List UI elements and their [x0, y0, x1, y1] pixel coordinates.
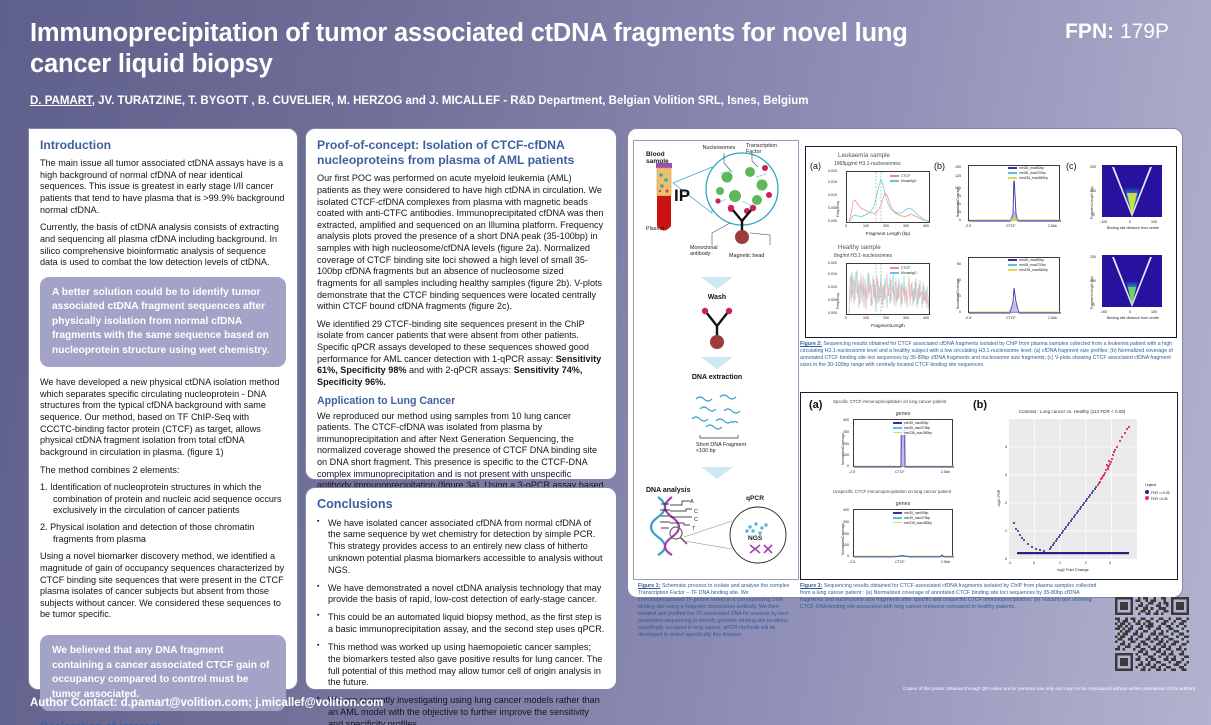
qpcr-label: qPCR [746, 495, 764, 502]
antibody-bead-icon [634, 304, 800, 354]
y-tick: 100 [955, 186, 961, 190]
x-tick: 100 [863, 224, 869, 228]
y-tick: 0 [959, 218, 961, 222]
base-c2-label: C [694, 517, 698, 523]
dna-fragments-icon [634, 393, 800, 443]
x-tick: -1 [1008, 561, 1011, 565]
conclusions-heading: Conclusions [317, 497, 605, 513]
qr-code[interactable] [1115, 597, 1189, 671]
x-tick: 2 [1085, 561, 1087, 565]
legend-entry: min35_max370bp [904, 426, 930, 430]
legend-entry: min236_max380bp [1019, 268, 1048, 272]
y-tick: 300 [843, 430, 849, 434]
y-tick: 200 [1090, 165, 1096, 169]
y-tick: 400 [843, 508, 849, 512]
introduction-paragraph-3: We have developed a new physical ctDNA i… [40, 377, 286, 458]
x-axis-label: Fragment Length (bp) [846, 231, 930, 236]
legend-title: Legend [1145, 483, 1169, 488]
x-tick: 2.5kb [941, 560, 950, 564]
y-tick: 100 [1090, 279, 1096, 283]
y-tick: 0 [1005, 557, 1007, 561]
x-tick: 100 [863, 316, 869, 320]
legend-entry: min236_max380bp [904, 521, 932, 525]
y-axis-label: NormalizedCoverage [841, 523, 845, 555]
plot-title: genes [853, 501, 953, 507]
chart-title: Contrast : Lung cancer vs. Healthy [113 … [1007, 409, 1137, 414]
legend-entry: min236_max380bp [1019, 176, 1048, 180]
y-axis-label: -log10 FDR [997, 490, 1001, 507]
y-tick: 0.005 [828, 298, 837, 302]
list-item: 2. Physical isolation and detection of t… [40, 522, 286, 545]
introduction-callout-1: A better solution could be to identify t… [40, 277, 286, 367]
legend-entry: FDR <0.05 [1151, 497, 1168, 501]
dna-extraction-label: DNA extraction [682, 374, 752, 382]
x-tick: 100 [1151, 310, 1157, 314]
figure2-panel: (a) (b) (c) Leukaemia sample 1968µg/ml H… [805, 146, 1177, 338]
x-tick: 2.5kb [1048, 224, 1057, 228]
list-item: We have isolated cancer associated cfDNA… [317, 518, 605, 577]
proof-of-concept-panel: Proof-of-concept: Isolation of CTCF-cfDN… [305, 128, 617, 480]
list-item: This method was worked up using haemopoi… [317, 642, 605, 689]
x-tick: 300 [903, 316, 909, 320]
legend-entry: CTCF [901, 266, 910, 270]
y-tick: 200 [843, 442, 849, 446]
arrow-down-icon-2 [701, 357, 733, 369]
x-tick: 1 [1059, 561, 1061, 565]
y-tick: 0 [847, 464, 849, 468]
x-tick: 100 [1151, 220, 1157, 224]
chart-subtitle: 1968µg/ml H3.1-nucleosomes [834, 161, 901, 167]
legend-entry: min35_max80bp [1019, 258, 1044, 262]
x-tick: -2.5 [965, 224, 971, 228]
y-tick: 0.015 [828, 180, 837, 184]
y-tick: 0 [847, 554, 849, 558]
legend-entry: min35_max370bp [904, 516, 930, 520]
vplot-heatmap [1102, 255, 1162, 307]
figure2a-leukaemia-chart: Leukaemia sample 1968µg/ml H3.1-nucleoso… [824, 151, 936, 243]
y-tick: 150 [955, 165, 961, 169]
figure1-diagram-panel: Blood sample [633, 140, 799, 580]
x-tick: -2.5 [965, 316, 971, 320]
introduction-panel: Introduction The main issue all tumor as… [28, 128, 298, 690]
author-contact: Author Contact: d.pamart@volition.com; j… [30, 697, 383, 709]
x-tick: -2.5 [849, 560, 855, 564]
chart-legend: min35_max80bp min35_max370bp min236_max3… [893, 421, 932, 435]
y-tick: 1 [1005, 529, 1007, 533]
author-list: D. PAMART, JV. TURATZINE, T. BYGOTT , B.… [30, 95, 1180, 107]
y-tick: 100 [843, 543, 849, 547]
x-tick: 0 [1129, 310, 1131, 314]
chart-subtitle: 8ng/ml H3.1-nucleosomes [834, 253, 892, 259]
chart-legend: CTCF MouseIgG [890, 174, 917, 184]
chart-legend: min35_max80bp min35_max370bp min236_max3… [893, 511, 932, 525]
introduction-paragraph-5: Using a novel biomarker discovery method… [40, 551, 286, 621]
y-tick: 0.000 [828, 219, 837, 223]
x-tick: 300 [903, 224, 909, 228]
nucleosomes-label: Nucleosomes [696, 145, 742, 151]
base-a-label: A [690, 499, 694, 505]
y-tick: 400 [843, 418, 849, 422]
legend-entry: MouseIgG [901, 271, 917, 275]
y-tick: 0.020 [828, 261, 837, 265]
y-tick: 40 [957, 278, 961, 282]
transcription-factor-label: Transcription Factor [746, 143, 790, 155]
copyright-notice: Copies of this poster obtained through Q… [620, 686, 1195, 691]
figure2-panel-letter-a: (a) [810, 161, 821, 171]
x-axis-label: FragmentLength [846, 323, 930, 328]
poc-p2-a: We identified 29 CTCF-binding site seque… [317, 319, 589, 364]
introduction-paragraph-1: The main issue all tumor associated ctDN… [40, 158, 286, 216]
list-item: 1. Identification of nucleoprotein struc… [40, 482, 286, 517]
figure3-caption: Figure 3: Sequencing results obtained fo… [800, 583, 1100, 611]
figure2-caption-label: Figure 2: [800, 341, 822, 347]
figure3-panel: (a) (b) Specific CTCF immunoprecipitatio… [800, 392, 1178, 580]
fpn-badge: FPN: 179P [1065, 20, 1169, 44]
chart-title: Specific CTCF immunoprecipitation on lun… [833, 399, 946, 404]
chart-legend: Legend FDR >=0.05 FDR <0.05 [1145, 483, 1169, 502]
figure2-panel-letter-c: (c) [1066, 161, 1077, 171]
x-tick: CTCF [1006, 316, 1016, 320]
figure3a-unspecific-chart: Unspecific CTCF immunoprecipitation on l… [829, 489, 979, 579]
y-tick: 200 [843, 532, 849, 536]
figure3b-volcano-chart: Contrast : Lung cancer vs. Healthy [113 … [987, 407, 1177, 579]
legend-entry: min236_max380bp [904, 431, 932, 435]
figure3-panel-letter-a: (a) [809, 399, 822, 411]
legend-entry: min35_max370bp [1019, 171, 1046, 175]
y-tick: 50 [957, 202, 961, 206]
x-tick: 0 [845, 316, 847, 320]
introduction-heading: Introduction [40, 138, 286, 153]
legend-entry: min35_max80bp [1019, 166, 1044, 170]
plasma-label: Plasma [646, 226, 680, 232]
monoclonal-antibody-label: Monoclonal antibody [690, 245, 728, 257]
x-tick: 0 [1033, 561, 1035, 565]
legend-entry: FDR >=0.05 [1151, 491, 1169, 495]
arrow-down-icon-3 [701, 467, 733, 479]
y-tick: 20 [957, 294, 961, 298]
figure2c-top-vplot: Fragment Length (bp) 0 100 200 -100 0 10… [1078, 163, 1173, 245]
chart-title: Leukaemia sample [838, 152, 890, 159]
y-tick: 4 [1005, 445, 1007, 449]
figure2c-bottom-vplot: Fragment Length (bp) 0 100 200 -100 0 10… [1078, 253, 1173, 335]
method-elements-list: 1. Identification of nucleoprotein struc… [40, 482, 286, 545]
x-tick: CTCF [895, 560, 905, 564]
legend-entry: min35_max370bp [1019, 263, 1046, 267]
y-tick: 0.010 [828, 285, 837, 289]
page-title: Immunoprecipitation of tumor associated … [30, 18, 990, 79]
figure2a-healthy-chart: Healthy sample 8ng/ml H3.1-nucleosomes C… [824, 243, 936, 335]
introduction-paragraph-4: The method combines 2 elements: [40, 465, 286, 477]
contact-label: Author Contact: [30, 697, 118, 709]
list-item: We have demonstrated a novel ctDNA analy… [317, 583, 605, 607]
ngs-label: NGS [748, 535, 762, 542]
x-tick: 0 [1129, 220, 1131, 224]
figure3-caption-label: Figure 3: [800, 583, 822, 589]
figure2b-bottom-chart: min35_max80bp min35_max370bp min236_max3… [946, 253, 1066, 335]
coauthors-affiliation: , JV. TURATZINE, T. BYGOTT , B. CUVELIER… [92, 95, 809, 107]
figure1-caption-label: Figure 1: [638, 583, 660, 589]
y-tick: 0.000 [828, 311, 837, 315]
x-tick: -100 [1100, 220, 1107, 224]
vplot-heatmap [1102, 165, 1162, 217]
y-tick: 2 [1005, 501, 1007, 505]
plot-area [846, 263, 930, 315]
dna-sequencing-icon [634, 491, 800, 579]
y-tick: 0 [1093, 303, 1095, 307]
legend-entry: min35_max80bp [904, 511, 928, 515]
poc-p2-c: and with 2-qPCR assays: [406, 365, 513, 375]
legend-entry: MouseIgG [901, 179, 917, 183]
x-tick: 2.5kb [1048, 316, 1057, 320]
plot-area [1009, 419, 1137, 559]
figure2-caption-text: Sequencing results obtained for CTCF ass… [800, 341, 1173, 368]
figure1-caption: Figure 1: Schematic process to isolate a… [638, 583, 796, 639]
x-axis-label: log2 Fold Change [1009, 567, 1137, 572]
chart-legend: min35_max80bp min35_max370bp min236_max3… [1008, 166, 1048, 181]
y-tick: 100 [1090, 189, 1096, 193]
y-tick: 0 [1093, 213, 1095, 217]
x-tick: -100 [1100, 310, 1107, 314]
fpn-label: FPN: [1065, 20, 1114, 43]
poster-header: Immunoprecipitation of tumor associated … [0, 0, 1211, 120]
y-tick: 0.015 [828, 272, 837, 276]
y-tick: 125 [955, 174, 961, 178]
fpn-number: 179P [1120, 20, 1169, 43]
y-tick: 300 [843, 520, 849, 524]
chart-legend: CTCF MouseIgG [890, 266, 917, 276]
list-item: This could be an automated liquid biopsy… [317, 612, 605, 636]
y-tick: 60 [957, 262, 961, 266]
x-tick: -2.5 [849, 470, 855, 474]
figure1-caption-text: Schematic process to isolate and analyse… [638, 583, 789, 638]
base-t-label: T [692, 526, 695, 532]
wash-step-label: Wash [687, 294, 747, 301]
chart-title: Unspecific CTCF immunoprecipitation on l… [833, 489, 951, 494]
plot-title: genes [853, 411, 953, 417]
x-tick: 3 [1109, 561, 1111, 565]
x-tick: CTCF [895, 470, 905, 474]
contact-emails: d.pamart@volition.com; j.micallef@voliti… [118, 697, 384, 709]
x-tick: 2.5kb [941, 470, 950, 474]
y-tick: 0.005 [828, 206, 837, 210]
short-dna-fragment-label: Short DNA Fragment <100 bp [696, 442, 756, 455]
figure3a-specific-chart: Specific CTCF immunoprecipitation on lun… [829, 399, 979, 489]
x-tick: 400 [923, 224, 929, 228]
y-tick: 75 [957, 194, 961, 198]
chart-title: Healthy sample [838, 244, 881, 251]
y-tick: 100 [843, 453, 849, 457]
poc-subheading-lung: Application to Lung Cancer [317, 395, 605, 407]
introduction-paragraph-2: Currently, the basis of ctDNA analysis c… [40, 222, 286, 269]
lead-author: D. PAMART [30, 95, 92, 107]
x-tick: 200 [883, 224, 889, 228]
figure2b-top-chart: min35_max80bp min35_max370bp min236_max3… [946, 161, 1066, 243]
y-tick: 25 [957, 210, 961, 214]
legend-entry: CTCF [901, 174, 910, 178]
y-tick: 0.010 [828, 193, 837, 197]
x-tick: CTCF [1006, 224, 1016, 228]
y-tick: 200 [1090, 255, 1096, 259]
y-tick: 0 [959, 310, 961, 314]
y-tick: 0.020 [828, 169, 837, 173]
chart-legend: min35_max80bp min35_max370bp min236_max3… [1008, 258, 1048, 273]
x-axis-label: Binding site distance from centre [1098, 226, 1168, 230]
base-c1-label: C [694, 509, 698, 515]
figure2-caption: Figure 2: Sequencing results obtained fo… [800, 341, 1180, 369]
y-axis-label: NormalizedCoverage [841, 433, 845, 465]
figure3-caption-text: Sequencing results obtained for CTCF ass… [800, 583, 1096, 610]
poc-heading: Proof-of-concept: Isolation of CTCF-cfDN… [317, 138, 605, 168]
plot-area [846, 171, 930, 223]
arrow-down-icon-1 [701, 277, 733, 289]
x-axis-label: Binding site distance from centre [1098, 316, 1168, 320]
x-tick: 0 [845, 224, 847, 228]
conclusions-panel: Conclusions We have isolated cancer asso… [305, 487, 617, 690]
x-tick: 200 [883, 316, 889, 320]
legend-entry: min35_max80bp [904, 421, 928, 425]
x-tick: 400 [923, 316, 929, 320]
poc-paragraph-1: Our first POC was performed on acute mye… [317, 173, 605, 313]
poc-paragraph-2: We identified 29 CTCF-binding site seque… [317, 319, 605, 389]
magnetic-bead-label: Magnetic bead [729, 253, 779, 259]
ip-label: IP [674, 186, 690, 206]
y-tick: 3 [1005, 473, 1007, 477]
